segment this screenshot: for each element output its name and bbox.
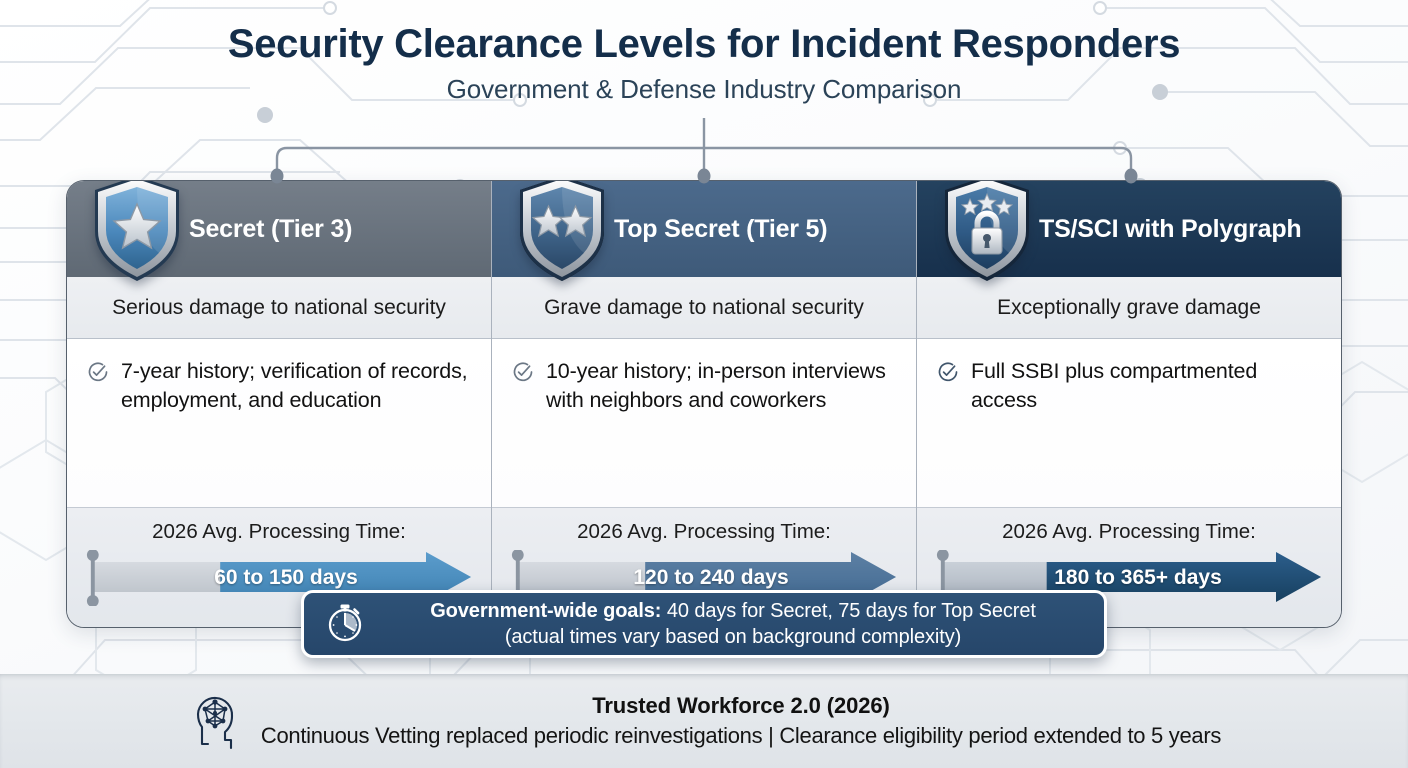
card-description-top-secret: Grave damage to national security — [492, 277, 916, 339]
stopwatch-icon — [322, 599, 368, 650]
card-title-ts-sci: TS/SCI with Polygraph — [1039, 215, 1302, 244]
card-title-top-secret: Top Secret (Tier 5) — [614, 215, 827, 244]
time-label-ts-sci: 2026 Avg. Processing Time: — [1002, 520, 1256, 544]
footer-text-block: Trusted Workforce 2.0 (2026) Continuous … — [261, 693, 1221, 749]
check-circle-icon — [937, 361, 959, 388]
card-bullet-text-top-secret: 10-year history; in-person interviews wi… — [546, 357, 898, 414]
shield-three-star-lock-icon — [939, 180, 1035, 285]
card-bullet-text-secret: 7-year history; verification of records,… — [121, 357, 473, 414]
check-circle-icon — [87, 361, 109, 388]
head-network-icon — [187, 688, 245, 755]
card-title-secret: Secret (Tier 3) — [189, 215, 352, 244]
time-label-secret: 2026 Avg. Processing Time: — [152, 520, 406, 544]
time-value-top-secret: 120 to 240 days — [633, 566, 788, 590]
goals-banner-text: Government-wide goals: 40 days for Secre… — [382, 598, 1084, 651]
government-goals-banner: Government-wide goals: 40 days for Secre… — [301, 590, 1107, 658]
goals-strong-label: Government-wide goals: — [430, 600, 661, 622]
time-value-ts-sci: 180 to 365+ days — [1054, 566, 1222, 590]
card-bullet-text-ts-sci: Full SSBI plus compartmented access — [971, 357, 1323, 414]
footer-subtitle: Continuous Vetting replaced periodic rei… — [261, 723, 1221, 749]
time-value-secret: 60 to 150 days — [214, 566, 358, 590]
clearance-cards-row: Secret (Tier 3) Serious damage to nation… — [66, 180, 1342, 628]
card-header-secret: Secret (Tier 3) — [67, 181, 491, 277]
goals-note-label: (actual times vary based on background c… — [382, 624, 1084, 650]
clearance-card-top-secret[interactable]: Top Secret (Tier 5) Grave damage to nati… — [491, 181, 916, 627]
page-subtitle: Government & Defense Industry Comparison — [0, 74, 1408, 105]
page-title: Security Clearance Levels for Incident R… — [0, 22, 1408, 66]
clearance-card-secret[interactable]: Secret (Tier 3) Serious damage to nation… — [67, 181, 491, 627]
clearance-card-ts-sci[interactable]: TS/SCI with Polygraph Exceptionally grav… — [916, 181, 1341, 627]
card-description-ts-sci: Exceptionally grave damage — [917, 277, 1341, 339]
card-header-top-secret: Top Secret (Tier 5) — [492, 181, 916, 277]
infographic-canvas: Security Clearance Levels for Incident R… — [0, 0, 1408, 768]
card-description-secret: Serious damage to national security — [67, 277, 491, 339]
shield-two-star-icon — [514, 180, 610, 285]
footer-bar: Trusted Workforce 2.0 (2026) Continuous … — [0, 674, 1408, 768]
card-bullets-ts-sci: Full SSBI plus compartmented access — [917, 339, 1341, 507]
header-block: Security Clearance Levels for Incident R… — [0, 22, 1408, 105]
goals-rest-label: 40 days for Secret, 75 days for Top Secr… — [661, 600, 1035, 622]
card-bullets-secret: 7-year history; verification of records,… — [67, 339, 491, 507]
card-header-ts-sci: TS/SCI with Polygraph — [917, 181, 1341, 277]
shield-one-star-icon — [89, 180, 185, 285]
check-circle-icon — [512, 361, 534, 388]
footer-title: Trusted Workforce 2.0 (2026) — [261, 693, 1221, 719]
card-bullets-top-secret: 10-year history; in-person interviews wi… — [492, 339, 916, 507]
time-label-top-secret: 2026 Avg. Processing Time: — [577, 520, 831, 544]
